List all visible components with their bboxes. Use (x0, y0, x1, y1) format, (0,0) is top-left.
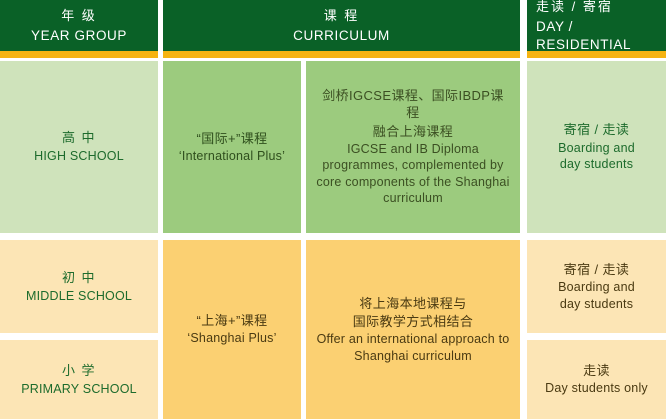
cell-residential-middle-school: 寄宿 / 走读 Boarding and day students (527, 240, 666, 333)
year-group-primary-school-cn: 小 学 (62, 362, 96, 379)
cell-description-shanghai-plus: 将上海本地课程与 国际教学方式相结合 Offer an internationa… (306, 240, 520, 419)
header-day-residential-en: DAY / RESIDENTIAL (536, 18, 666, 54)
header-year-group-cn: 年 级 (61, 7, 97, 24)
header-day-residential-cn: 走读 / 寄宿 (536, 0, 613, 15)
residential-high-school-cn: 寄宿 / 走读 (564, 121, 630, 138)
cell-residential-primary-school: 走读 Day students only (527, 340, 666, 419)
description-shanghai-plus-cn-2: 国际教学方式相结合 (353, 313, 474, 330)
residential-middle-school-cn: 寄宿 / 走读 (564, 261, 630, 278)
cell-year-group-primary-school: 小 学 PRIMARY SCHOOL (0, 340, 158, 419)
cell-residential-high-school: 寄宿 / 走读 Boarding and day students (527, 61, 666, 233)
cell-year-group-high-school: 高 中 HIGH SCHOOL (0, 61, 158, 233)
description-shanghai-plus-en-1: Offer an international approach to (317, 331, 510, 348)
header-curriculum: 课 程 CURRICULUM (163, 0, 520, 58)
description-shanghai-plus-cn-1: 将上海本地课程与 (359, 295, 466, 312)
programme-shanghai-plus-en: ‘Shanghai Plus’ (187, 330, 276, 347)
programme-international-plus-cn: “国际+”课程 (196, 130, 267, 147)
year-group-middle-school-en: MIDDLE SCHOOL (26, 288, 132, 305)
residential-high-school-en-2: day students (560, 156, 633, 173)
header-year-group-en: YEAR GROUP (31, 27, 127, 45)
year-group-high-school-cn: 高 中 (62, 129, 96, 146)
description-high-school-en-1: IGCSE and IB Diploma (347, 141, 479, 158)
header-curriculum-en: CURRICULUM (293, 27, 390, 45)
residential-high-school-en-1: Boarding and (558, 140, 635, 157)
residential-primary-school-en-1: Day students only (545, 380, 648, 397)
year-group-primary-school-en: PRIMARY SCHOOL (21, 381, 137, 398)
header-day-residential: 走读 / 寄宿 DAY / RESIDENTIAL (527, 0, 666, 58)
header-year-group: 年 级 YEAR GROUP (0, 0, 158, 58)
description-shanghai-plus-en-2: Shanghai curriculum (354, 348, 472, 365)
cell-description-high-school: 剑桥IGCSE课程、国际IBDP课程 融合上海课程 IGCSE and IB D… (306, 61, 520, 233)
cell-programme-shanghai-plus: “上海+”课程 ‘Shanghai Plus’ (163, 240, 301, 419)
curriculum-overview-table: 年 级 YEAR GROUP 课 程 CURRICULUM 走读 / 寄宿 DA… (0, 0, 666, 419)
year-group-middle-school-cn: 初 中 (62, 269, 96, 286)
description-high-school-en-4: curriculum (383, 190, 443, 207)
cell-programme-international-plus: “国际+”课程 ‘International Plus’ (163, 61, 301, 233)
programme-international-plus-en: ‘International Plus’ (179, 148, 285, 165)
residential-primary-school-cn: 走读 (583, 362, 610, 379)
year-group-high-school-en: HIGH SCHOOL (34, 148, 124, 165)
cell-year-group-middle-school: 初 中 MIDDLE SCHOOL (0, 240, 158, 333)
residential-middle-school-en-1: Boarding and (558, 279, 635, 296)
programme-shanghai-plus-cn: “上海+”课程 (196, 312, 267, 329)
description-high-school-cn-2: 融合上海课程 (373, 123, 453, 140)
description-high-school-en-3: core components of the Shanghai (316, 174, 509, 191)
description-high-school-cn-1: 剑桥IGCSE课程、国际IBDP课程 (316, 87, 510, 121)
header-curriculum-cn: 课 程 (324, 7, 360, 24)
residential-middle-school-en-2: day students (560, 296, 633, 313)
description-high-school-en-2: programmes, complemented by (322, 157, 503, 174)
